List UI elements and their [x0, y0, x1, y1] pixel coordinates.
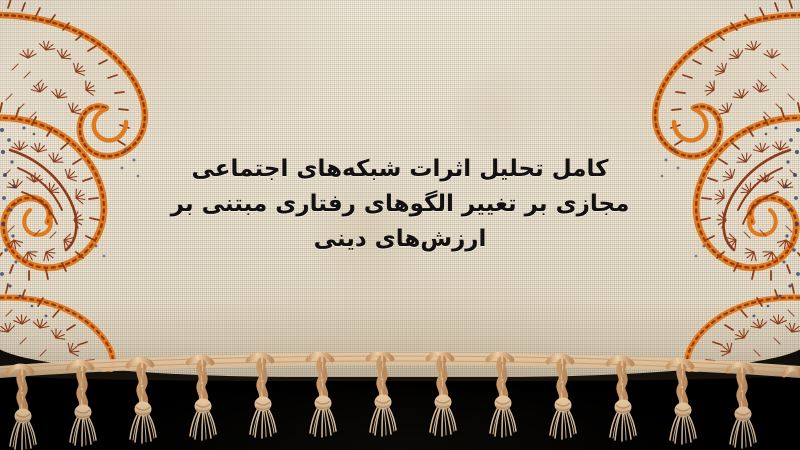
- page-title: کامل تحلیل اثرات شبکه‌های اجتماعی مجازی …: [0, 152, 800, 257]
- title-line-3: ارزش‌های دینی: [150, 222, 650, 257]
- title-card-stage: کامل تحلیل اثرات شبکه‌های اجتماعی مجازی …: [0, 0, 800, 450]
- title-line-2: مجازی بر تغییر الگوهای رفتاری مبتنی بر: [150, 187, 650, 222]
- title-line-1: کامل تحلیل اثرات شبکه‌های اجتماعی: [150, 152, 650, 187]
